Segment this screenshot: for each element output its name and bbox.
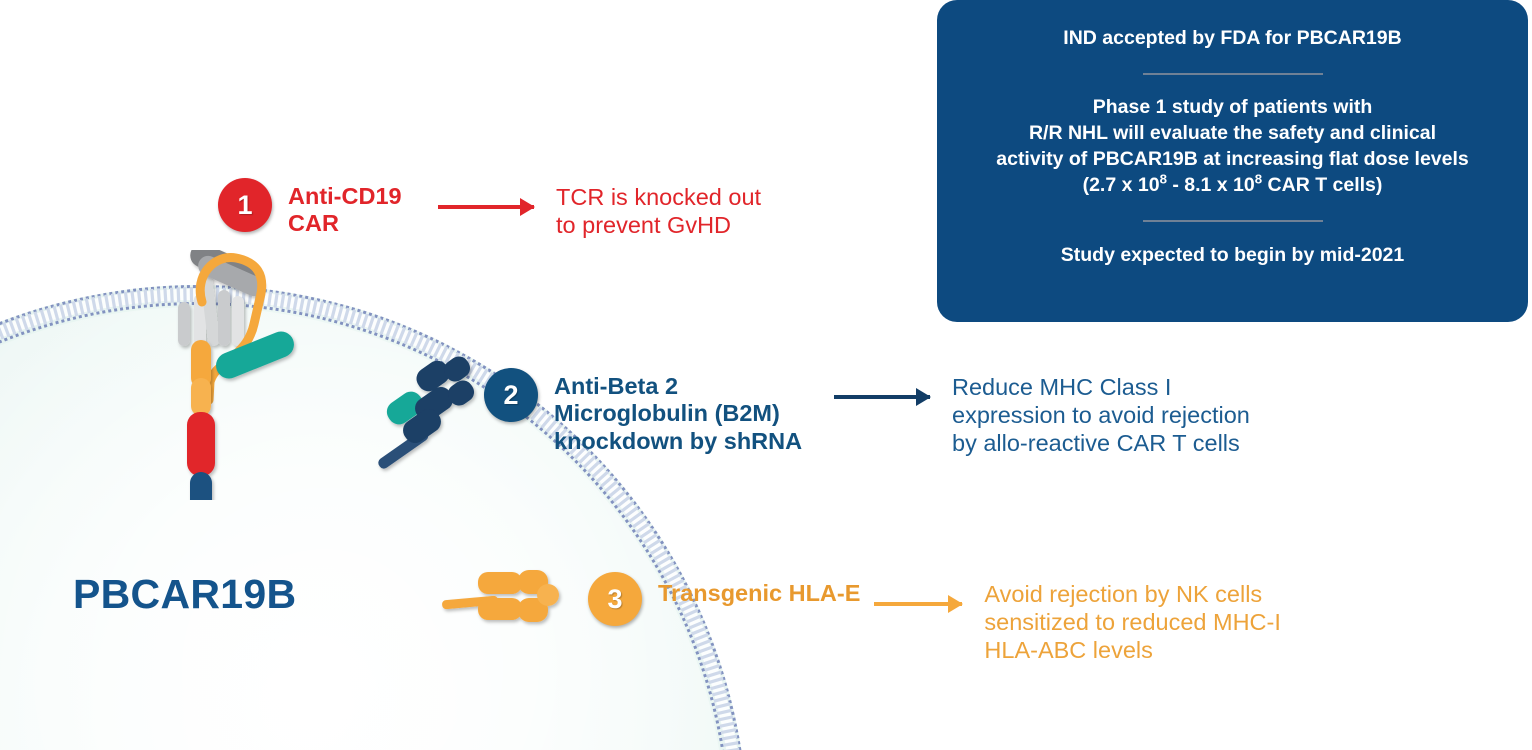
callout-2-arrow <box>834 395 930 399</box>
callout-2-body: Reduce MHC Class I expression to avoid r… <box>952 373 1250 458</box>
info-box-divider-2 <box>1143 220 1323 222</box>
mhc-class-i-molecule <box>368 348 503 488</box>
callout-3-body: Avoid rejection by NK cells sensitized t… <box>984 580 1280 665</box>
info-box-exponent-1: 8 <box>1160 171 1167 186</box>
callout-2: 2 Anti-Beta 2 Microglobulin (B2M) knockd… <box>484 368 1250 458</box>
callout-1-body: TCR is knocked out to prevent GvHD <box>556 183 761 239</box>
car-stalk-segments <box>187 340 215 500</box>
callout-2-number[interactable]: 2 <box>484 368 538 422</box>
car-red-segment <box>187 412 215 476</box>
callout-3: 3 Transgenic HLA-E Avoid rejection by NK… <box>588 572 1281 665</box>
info-box-paragraph-suffix: CAR T cells) <box>1262 174 1382 196</box>
callout-1: 1 Anti-CD19 CAR TCR is knocked out to pr… <box>218 178 761 239</box>
callout-2-title: Anti-Beta 2 Microglobulin (B2M) knockdow… <box>554 373 844 455</box>
info-box-footer: Study expected to begin by mid-2021 <box>1061 243 1405 269</box>
info-box-heading: IND accepted by FDA for PBCAR19B <box>1063 26 1401 52</box>
hla-e-molecule <box>440 556 570 646</box>
figure-canvas: PBCAR19B 1 Anti-CD19 CAR TCR is knocked … <box>0 0 1532 750</box>
callout-3-number[interactable]: 3 <box>588 572 642 626</box>
info-box-divider-1 <box>1143 73 1323 75</box>
car-navy-tail <box>190 472 212 500</box>
callout-3-arrow <box>874 602 962 606</box>
callout-1-title: Anti-CD19 CAR <box>288 183 438 238</box>
cell-label: PBCAR19B <box>73 571 296 618</box>
callout-1-number[interactable]: 1 <box>218 178 272 232</box>
info-box-paragraph: Phase 1 study of patients with R/R NHL w… <box>996 95 1469 199</box>
callout-3-title: Transgenic HLA-E <box>658 580 860 607</box>
callout-1-arrow <box>438 205 534 209</box>
info-box-paragraph-mid: - 8.1 x 10 <box>1167 174 1255 196</box>
info-box: IND accepted by FDA for PBCAR19B Phase 1… <box>937 0 1528 322</box>
